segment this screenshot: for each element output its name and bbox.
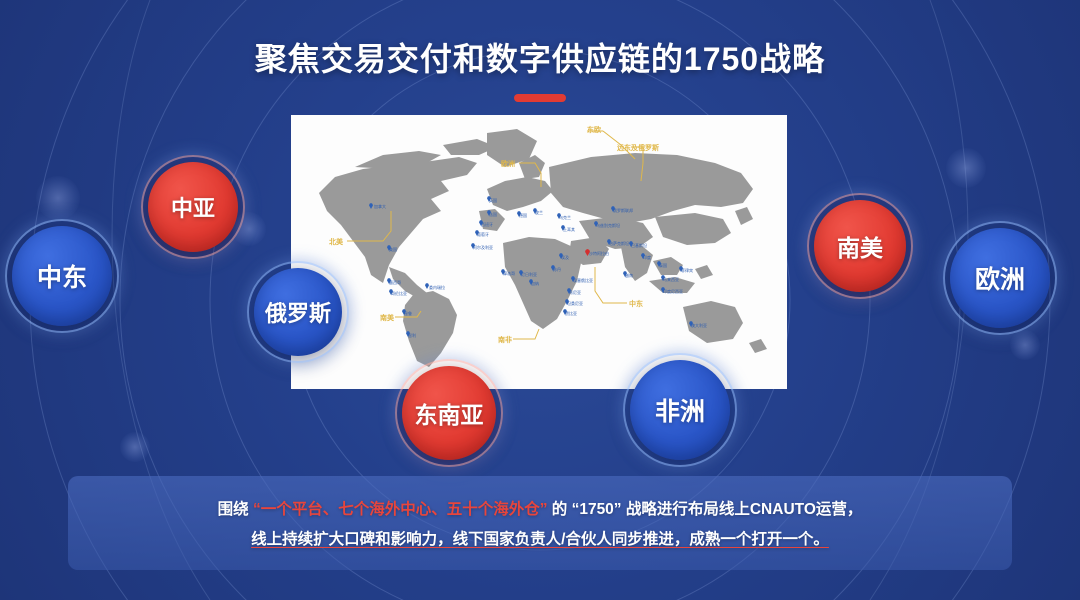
map-pin-label: 加拿大 [374,204,386,210]
map-pin-label: 德国 [519,213,527,219]
slide-canvas: 聚焦交易交付和数字供应链的1750战略 [0,0,1080,600]
world-map-panel: 加拿大美国墨西哥委内瑞拉哥伦比亚秘鲁智利英国法国西班牙葡萄牙阿尔及利亚摩洛哥尼日… [291,115,787,389]
map-pin-label: 波兰 [535,210,543,216]
map-pin-label: 苏丹 [553,267,561,273]
map-pin-label: 澳大利亚 [691,323,707,329]
title-block: 聚焦交易交付和数字供应链的1750战略 [0,34,1080,102]
caption-line-2: 线上持续扩大口碑和影响力，线下国家负责人/合伙人同步推进，成熟一个打开一个。 [251,527,829,549]
map-pin-label: 坦桑尼亚 [567,301,583,307]
map-pin-label: 菲律宾 [681,268,693,274]
caption-prefix: 围绕 [218,501,249,518]
map-pin-label: 土耳其 [563,227,575,233]
region-bubble-label: 非洲 [655,392,705,428]
region-bubble-label: 南美 [837,229,883,263]
map-pin-label: 越南 [625,273,633,279]
map-pin-label: 哥伦比亚 [391,291,407,297]
map-pin-label: 英国 [489,198,497,204]
map-pin-label: 葡萄牙 [477,232,489,238]
region-bubble-label: 东南亚 [415,396,484,430]
glow-dot [946,148,986,188]
caption-panel: 围绕 “一个平台、七个海外中心、五十个海外仓” 的 “1750” 战略进行布局线… [68,476,1012,570]
map-pin-label: 哈萨克斯坦 [609,241,629,247]
map-region-label: 南美 [380,313,394,323]
map-pin-label: 委内瑞拉 [429,285,445,291]
map-pin-label: 摩洛哥 [503,271,515,277]
map-region-label: 中东 [629,299,643,309]
glow-dot [120,432,150,462]
region-bubble-label: 中亚 [171,191,215,223]
map-pin-label: 乌兹别克斯坦 [596,223,620,229]
map-pin-label: 马来西亚 [663,277,679,283]
map-pin-label: 智利 [408,333,416,339]
map-region-label: 远东及俄罗斯 [617,143,659,153]
map-pin-label: 肯尼亚 [569,290,581,296]
map-region-label: 南非 [498,335,512,345]
map-pin-label: 加纳 [531,281,539,287]
region-bubble-7[interactable]: 欧洲 [950,228,1050,328]
map-pin-label: 西班牙 [481,222,493,228]
map-pin-label: 巴基斯坦 [631,243,647,249]
region-bubble-1[interactable]: 中东 [12,226,112,326]
map-pin-label: 阿尔及利亚 [473,245,493,251]
region-bubble-label: 欧洲 [975,260,1025,296]
region-bubble-6[interactable]: 南美 [814,200,906,292]
caption-highlight: “一个平台、七个海外中心、五十个海外仓” [253,501,548,518]
map-pin-label: 泰国 [659,263,667,269]
region-bubble-label: 俄罗斯 [265,296,331,328]
map-pin-label: 俄罗斯联邦 [613,208,633,214]
map-pin-label: 乌克兰 [559,215,571,221]
map-region-label: 东欧 [587,125,601,135]
title-accent-bar [514,94,566,102]
map-pin-label: 尼日利亚 [521,272,537,278]
map-pin-label: 埃及 [561,255,569,261]
caption-line-1: 围绕 “一个平台、七个海外中心、五十个海外仓” 的 “1750” 战略进行布局线… [218,497,863,519]
glow-dot [1010,330,1040,360]
map-pin-label: 印度尼西亚 [663,289,683,295]
map-region-label: 欧洲 [501,159,515,169]
map-pin-label: 美国 [389,247,397,253]
caption-suffix: 的 “1750” 战略进行布局线上CNAUTO运营， [552,501,863,518]
map-pin-label: 印度 [643,255,651,261]
world-map-landmass [291,115,787,389]
region-bubble-3[interactable]: 俄罗斯 [254,268,342,356]
region-bubble-5[interactable]: 非洲 [630,360,730,460]
map-pin-label: 赞比亚 [565,311,577,317]
map-region-label: 北美 [329,237,343,247]
map-pin-label: 沙特阿拉伯 [589,251,609,257]
region-bubble-4[interactable]: 东南亚 [402,366,496,460]
map-pin-label: 秘鲁 [404,311,412,317]
region-bubble-2[interactable]: 中亚 [148,162,238,252]
map-pin-label: 法国 [489,212,497,218]
glow-dot [36,176,80,220]
map-pin-label: 埃塞俄比亚 [573,278,593,284]
region-bubble-label: 中东 [37,258,87,294]
page-title: 聚焦交易交付和数字供应链的1750战略 [0,34,1080,80]
map-pin-label: 墨西哥 [389,280,401,286]
